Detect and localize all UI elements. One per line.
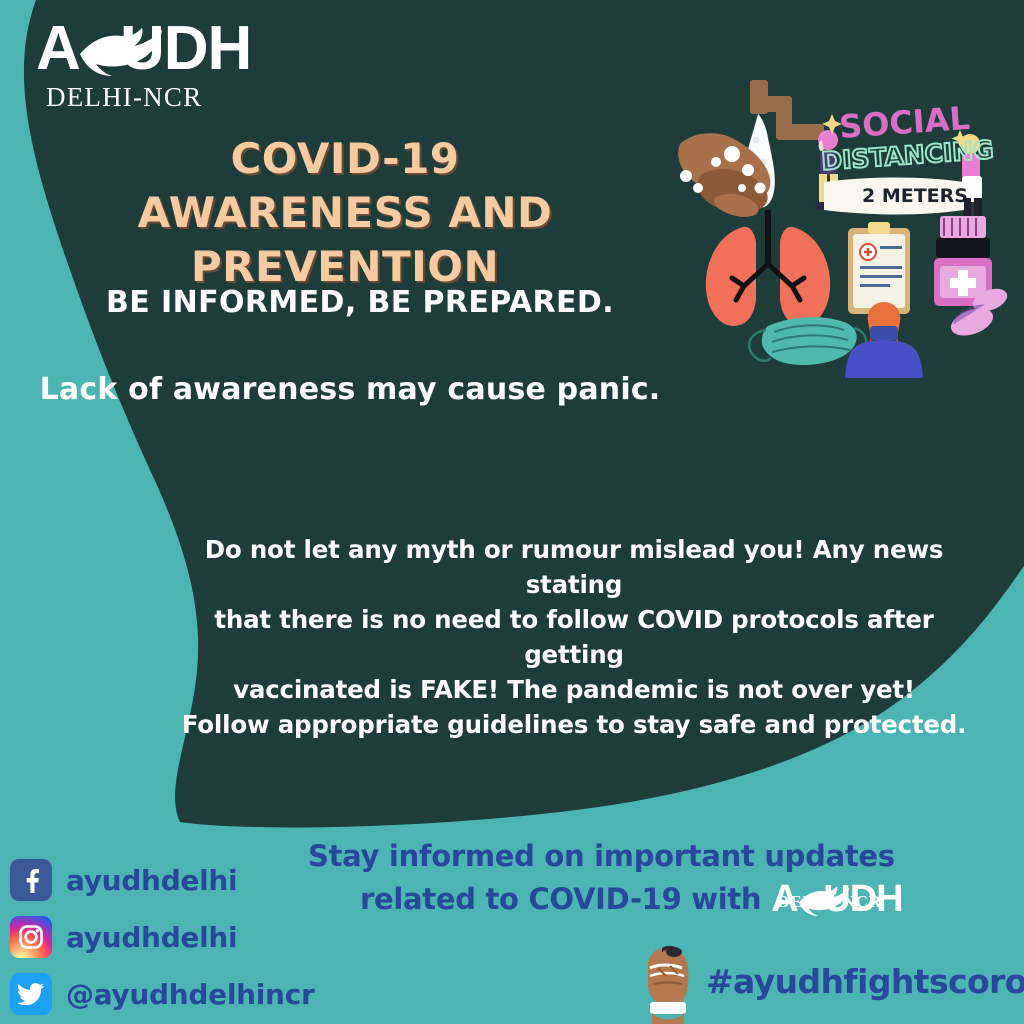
social-row-instagram[interactable]: ayudhdelhi xyxy=(10,913,315,961)
clipboard-icon xyxy=(848,222,910,314)
social-links-list: ayudhdelhi ayudhdelhi @ayudhdelhincr xyxy=(10,856,315,1024)
ayudh-logo-header: A UDH DELHI-NCR xyxy=(36,18,276,113)
body-paragraph: Do not let any myth or rumour mislead yo… xyxy=(168,532,980,742)
facebook-icon[interactable] xyxy=(10,859,52,901)
instagram-icon[interactable] xyxy=(10,916,52,958)
subtitle-text: BE INFORMED, BE PREPARED. xyxy=(0,285,720,320)
lungs-icon xyxy=(706,210,830,326)
twitter-icon[interactable] xyxy=(10,973,52,1015)
logo-letters-udh-footer: UDH xyxy=(823,880,902,918)
cta-line-2: related to COVID-19 with xyxy=(360,879,761,920)
hashtag-text: #ayudhfightscorona xyxy=(706,962,1024,1001)
body-line-1: Do not let any myth or rumour mislead yo… xyxy=(168,532,980,602)
title-line-1: COVID-19 xyxy=(0,132,690,186)
instagram-handle[interactable]: ayudhdelhi xyxy=(66,921,237,954)
logo-subtitle: DELHI-NCR xyxy=(46,82,276,113)
social-row-facebook[interactable]: ayudhdelhi xyxy=(10,856,315,904)
raised-fist-icon xyxy=(636,938,700,1024)
social-distancing-banner: SOCIAL DISTANCING 2 METERS xyxy=(815,99,995,222)
hashtag-block: #ayudhfightscorona xyxy=(636,938,1024,1024)
poster-canvas: A UDH DELHI-NCR COVID-19 AWARENESS AND P… xyxy=(0,0,1024,1024)
ayudh-logo-footer: A UDH DELHI-NCR xyxy=(771,877,895,922)
logo-letter-a-footer: A xyxy=(771,880,797,918)
cta-block: Stay informed on important updates relat… xyxy=(300,836,900,922)
banner-meters-label: 2 METERS xyxy=(862,185,968,207)
body-line-2: that there is no need to follow COVID pr… xyxy=(168,602,980,672)
page-title: COVID-19 AWARENESS AND PREVENTION xyxy=(0,132,690,294)
logo-letters-udh: UDH xyxy=(120,18,251,80)
body-line-3: vaccinated is FAKE! The pandemic is not … xyxy=(168,672,980,707)
title-line-2: AWARENESS AND PREVENTION xyxy=(0,186,690,294)
cta-line-2-row: related to COVID-19 with A UDH DELHI-NCR xyxy=(300,877,900,922)
logo-letter-a: A xyxy=(36,18,80,80)
twitter-handle[interactable]: @ayudhdelhincr xyxy=(66,978,315,1011)
covid-illustration-cluster: SOCIAL DISTANCING 2 METERS xyxy=(672,78,1024,378)
body-line-4: Follow appropriate guidelines to stay sa… xyxy=(168,707,980,742)
facebook-handle[interactable]: ayudhdelhi xyxy=(66,864,237,897)
social-row-twitter[interactable]: @ayudhdelhincr xyxy=(10,970,315,1018)
logo-wordmark: A UDH xyxy=(36,18,276,80)
cta-line-1: Stay informed on important updates xyxy=(300,836,900,877)
tagline-text: Lack of awareness may cause panic. xyxy=(0,372,700,407)
